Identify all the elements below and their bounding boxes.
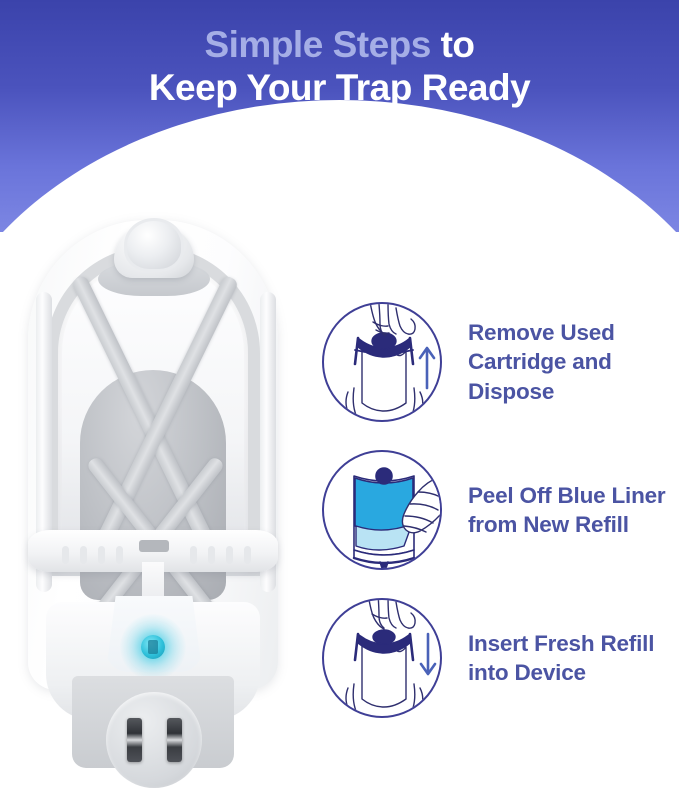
title-line-two: Keep Your Trap Ready — [0, 67, 679, 108]
hand-removing-cartridge-up-arrow-icon — [324, 304, 442, 422]
step-item-1: Remove Used Cartridge and Dispose — [322, 288, 674, 436]
band-tooth — [116, 546, 123, 564]
title-hard-part: to — [431, 24, 475, 65]
band-tooth — [62, 546, 69, 564]
band-tooth — [190, 546, 197, 564]
step-1-icon-remove-used-cartridge — [322, 302, 442, 422]
page-title: Simple Steps to Keep Your Trap Ready — [0, 0, 679, 109]
band-tooth — [80, 546, 87, 564]
step-3-icon-insert-fresh-refill — [322, 598, 442, 718]
band-tooth — [226, 546, 233, 564]
step-2-label: Peel Off Blue Liner from New Refill — [468, 481, 668, 540]
plug-prong-right — [167, 718, 182, 762]
hero-banner: Simple Steps to Keep Your Trap Ready — [0, 0, 679, 232]
band-tooth — [208, 546, 215, 564]
indicator-light-glyph — [148, 640, 158, 654]
band-tooth — [98, 546, 105, 564]
hand-peeling-blue-liner-icon — [324, 452, 442, 570]
step-item-3: Insert Fresh Refill into Device — [322, 584, 674, 732]
product-image — [6, 210, 306, 805]
steps-list: Remove Used Cartridge and Dispose — [322, 288, 674, 732]
dome-knob — [124, 218, 184, 272]
plug-prong-left — [127, 718, 142, 762]
band-tooth — [244, 546, 251, 564]
title-soft-part: Simple Steps — [204, 24, 430, 65]
plug-face — [106, 692, 202, 788]
hand-inserting-refill-down-arrow-icon — [324, 600, 442, 718]
band-center-notch — [139, 540, 169, 552]
step-item-2: Peel Off Blue Liner from New Refill — [322, 436, 674, 584]
step-1-label: Remove Used Cartridge and Dispose — [468, 318, 668, 406]
step-3-label: Insert Fresh Refill into Device — [468, 629, 668, 688]
step-2-icon-peel-blue-liner — [322, 450, 442, 570]
